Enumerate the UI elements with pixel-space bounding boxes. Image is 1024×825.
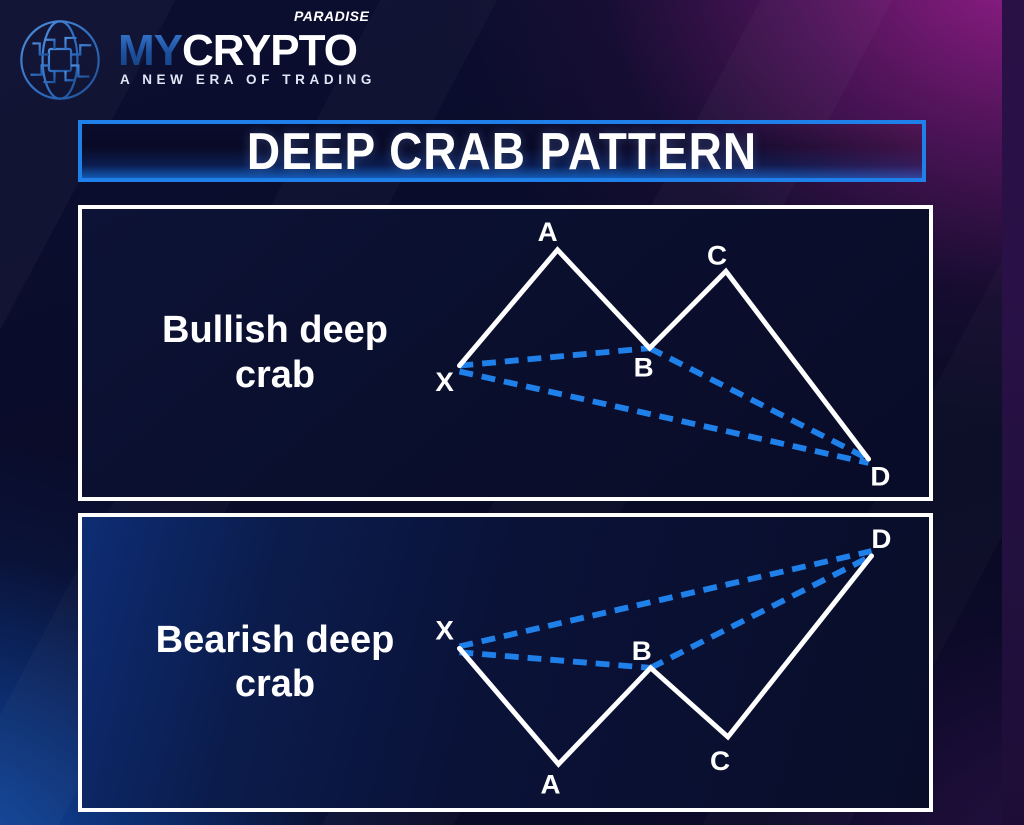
dashed-leg-b-d: [651, 556, 872, 668]
brand-superscript: PARADISE: [294, 8, 369, 24]
dashed-leg-x-d: [459, 371, 868, 462]
point-label-c: C: [710, 745, 730, 776]
brand-wordmark: MYCRYPTO: [118, 26, 388, 74]
right-edge-strip: [1002, 0, 1024, 825]
point-label-a: A: [538, 216, 558, 247]
bearish-pattern-diagram: X A B C D: [82, 517, 929, 808]
point-label-b: B: [632, 635, 652, 666]
dashed-leg-x-b: [459, 348, 649, 366]
point-label-c: C: [707, 240, 727, 271]
point-label-d: D: [870, 461, 890, 492]
point-label-b: B: [634, 352, 654, 383]
dashed-leg-x-b: [459, 652, 650, 668]
globe-circuit-icon: [14, 14, 106, 106]
price-path-xabcd: [459, 250, 868, 459]
point-label-x: X: [435, 615, 454, 646]
bullish-pattern-diagram: X A B C D: [82, 209, 929, 497]
brand-logo[interactable]: MYCRYPTO PARADISE A NEW ERA OF TRADING: [8, 6, 388, 106]
page-title: DEEP CRAB PATTERN: [247, 121, 757, 181]
point-label-a: A: [541, 769, 561, 800]
pattern-panel-bullish: Bullish deep crab X A B C D: [78, 205, 933, 501]
dashed-leg-b-d: [650, 348, 869, 459]
pattern-panel-bearish: Bearish deep crab X A B C D: [78, 513, 933, 812]
price-path-xabcd: [459, 556, 871, 764]
point-label-d: D: [871, 523, 891, 554]
brand-name-primary: MY: [118, 26, 182, 75]
poster-canvas: MYCRYPTO PARADISE A NEW ERA OF TRADING D…: [0, 0, 1024, 825]
title-banner: DEEP CRAB PATTERN: [78, 120, 926, 182]
brand-tagline: A NEW ERA OF TRADING: [120, 72, 376, 87]
point-label-x: X: [435, 366, 454, 397]
brand-name-secondary: CRYPTO: [182, 26, 357, 75]
